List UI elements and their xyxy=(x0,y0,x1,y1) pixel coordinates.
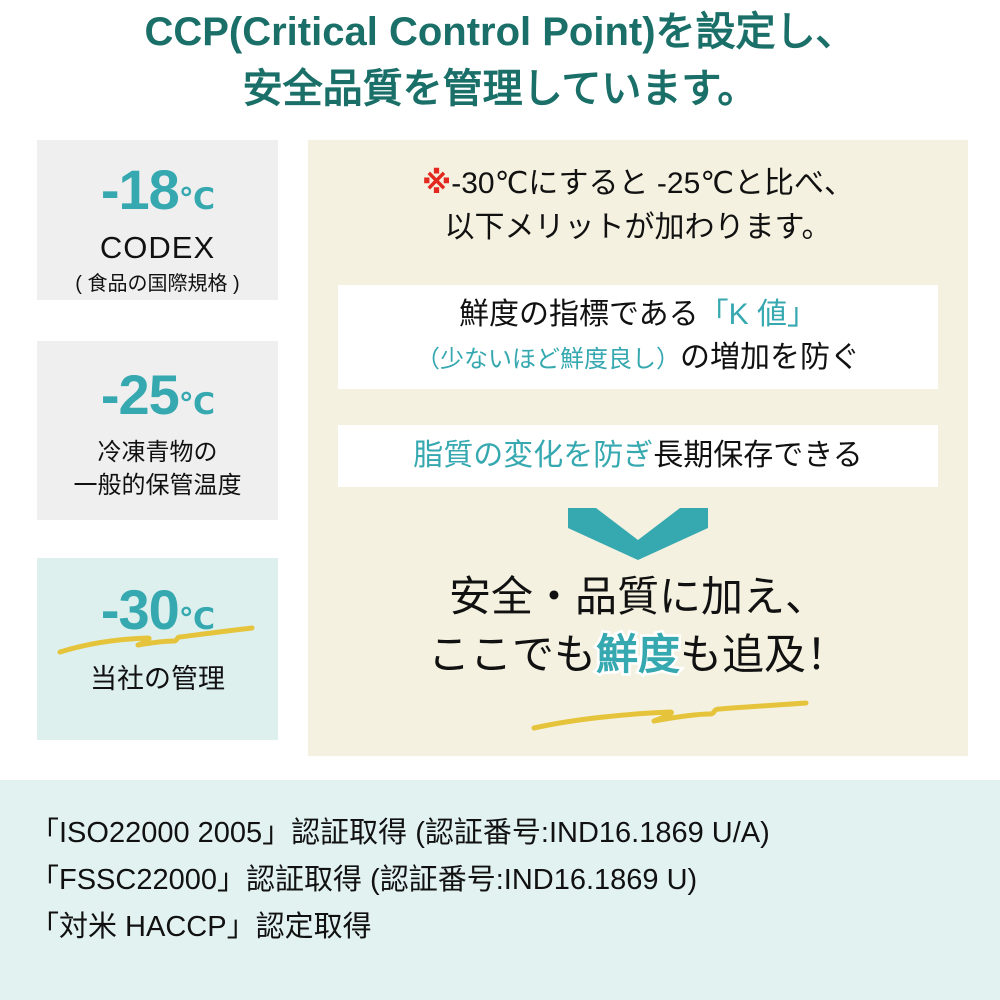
infographic-root: CCP(Critical Control Point)を設定し、 安全品質を管理… xyxy=(0,0,1000,1000)
page-title: CCP(Critical Control Point)を設定し、 安全品質を管理… xyxy=(0,4,1000,118)
merit-card-lipid: 脂質の変化を防ぎ長期保存できる xyxy=(338,425,938,487)
merit-text-black-2: の増加を防ぐ xyxy=(680,341,860,374)
temperature-value-general: -25℃ xyxy=(37,367,278,423)
temperature-caption-main: 当社の管理 xyxy=(37,662,278,697)
title-line-1: CCP(Critical Control Point)を設定し、 xyxy=(0,4,1000,61)
merit-text-teal: 「K 値」 xyxy=(699,298,817,331)
title-line-2: 安全品質を管理しています。 xyxy=(0,61,1000,118)
merit-text-black: 長期保存できる xyxy=(653,439,862,472)
merit-text-teal: 脂質の変化を防ぎ xyxy=(413,439,653,472)
temperature-card-codex: -18℃ CODEX ( 食品の国際規格 ) xyxy=(37,140,278,300)
temperature-number: -30 xyxy=(101,578,179,641)
temperature-value-our-control: -30℃ xyxy=(37,582,278,638)
temperature-caption-line-2: 一般的保管温度 xyxy=(74,472,242,499)
temperature-caption-sub: ( 食品の国際規格 ) xyxy=(37,271,278,297)
temperature-number: -25 xyxy=(101,363,179,426)
merit-line-1: 鮮度の指標である「K 値」 xyxy=(338,297,938,333)
conclusion-line-2: ここでも鮮度も追及！ xyxy=(308,626,968,684)
panel-note-line-1: ※-30℃にすると -25℃と比べ、 xyxy=(308,162,968,206)
temperature-unit: ℃ xyxy=(179,603,214,636)
merit-card-k-value: 鮮度の指標である「K 値」 （少ないほど鮮度良し）の増加を防ぐ xyxy=(338,285,938,389)
temperature-card-general-storage: -25℃ 冷凍青物の 一般的保管温度 xyxy=(37,341,278,520)
temperature-card-our-control: -30℃ 当社の管理 xyxy=(37,558,278,740)
merit-line-2: （少ないほど鮮度良し）の増加を防ぐ xyxy=(338,340,938,376)
temperature-caption-main: CODEX xyxy=(37,228,278,268)
list-item: 「FSSC22000」認証取得 (認証番号:IND16.1869 U) xyxy=(30,857,980,904)
merit-line-1: 脂質の変化を防ぎ長期保存できる xyxy=(338,438,938,474)
temperature-caption-line-1: 冷凍青物の xyxy=(98,439,218,466)
certification-band: 「ISO22000 2005」認証取得 (認証番号:IND16.1869 U/A… xyxy=(0,780,1000,1000)
merit-text-black: 鮮度の指標である xyxy=(459,298,699,331)
certification-list: 「ISO22000 2005」認証取得 (認証番号:IND16.1869 U/A… xyxy=(30,810,980,951)
conclusion-text: 安全・品質に加え、 ここでも鮮度も追及！ xyxy=(308,568,968,684)
temperature-number: -18 xyxy=(101,158,179,221)
asterisk-mark-icon: ※ xyxy=(422,167,451,200)
list-item: 「対米 HACCP」認定取得 xyxy=(30,904,980,951)
temperature-caption-main: 冷凍青物の 一般的保管温度 xyxy=(37,437,278,502)
list-item: 「ISO22000 2005」認証取得 (認証番号:IND16.1869 U/A… xyxy=(30,810,980,857)
conclusion-post: も追及！ xyxy=(680,631,848,678)
merit-text-paren-teal: （少ないほど鮮度良し） xyxy=(416,346,680,373)
temperature-unit: ℃ xyxy=(179,388,214,421)
temperature-value-codex: -18℃ xyxy=(37,162,278,218)
panel-note-text-1: -30℃にすると -25℃と比べ、 xyxy=(451,167,854,200)
conclusion-highlight: 鮮度 xyxy=(596,631,680,678)
merits-panel: ※-30℃にすると -25℃と比べ、 以下メリットが加わります。 鮮度の指標であ… xyxy=(308,140,968,756)
chevron-down-icon xyxy=(568,508,708,560)
panel-note: ※-30℃にすると -25℃と比べ、 以下メリットが加わります。 xyxy=(308,162,968,249)
conclusion-pre: ここでも xyxy=(428,631,596,678)
temperature-unit: ℃ xyxy=(179,183,214,216)
conclusion-line-1: 安全・品質に加え、 xyxy=(308,568,968,626)
panel-note-line-2: 以下メリットが加わります。 xyxy=(308,206,968,250)
